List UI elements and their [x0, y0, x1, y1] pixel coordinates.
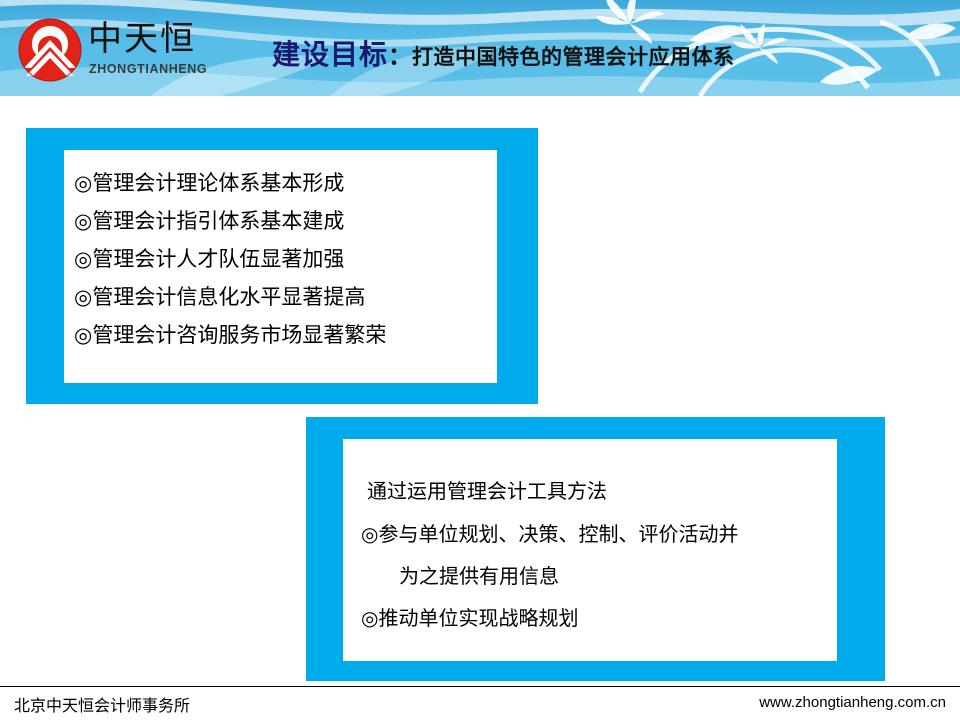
methods-lead-text: 通过运用管理会计工具方法 [361, 469, 831, 513]
slide-title: 建设目标：打造中国特色的管理会计应用体系 [272, 38, 735, 77]
goals-panel: ◎管理会计理论体系基本形成 ◎管理会计指引体系基本建成 ◎管理会计人才队伍显著加… [26, 128, 538, 404]
goals-list: ◎管理会计理论体系基本形成 ◎管理会计指引体系基本建成 ◎管理会计人才队伍显著加… [74, 164, 494, 354]
list-item: ◎管理会计指引体系基本建成 [74, 202, 494, 240]
zhongtianheng-emblem-icon [18, 18, 82, 82]
goals-panel-inner: ◎管理会计理论体系基本形成 ◎管理会计指引体系基本建成 ◎管理会计人才队伍显著加… [64, 150, 497, 383]
footer-organization: 北京中天恒会计师事务所 [14, 692, 190, 716]
list-item: ◎推动单位实现战略规划 [361, 597, 831, 639]
logo-chinese-name: 中天恒 [88, 20, 196, 58]
slide-title-sub: 打造中国特色的管理会计应用体系 [412, 45, 735, 69]
methods-panel: 通过运用管理会计工具方法 ◎参与单位规划、决策、控制、评价活动并 为之提供有用信… [306, 417, 885, 681]
list-item-continuation: 为之提供有用信息 [361, 555, 831, 597]
methods-list: 通过运用管理会计工具方法 ◎参与单位规划、决策、控制、评价活动并 为之提供有用信… [361, 469, 831, 639]
slide-title-main: 建设目标 [272, 38, 388, 71]
list-item: ◎参与单位规划、决策、控制、评价活动并 [361, 513, 831, 555]
footer-divider [0, 686, 960, 687]
list-item: ◎管理会计理论体系基本形成 [74, 164, 494, 202]
footer-website[interactable]: www.zhongtianheng.com.cn [759, 694, 946, 711]
slide-header: 中天恒 ZHONGTIANHENG 建设目标：打造中国特色的管理会计应用体系 [0, 0, 960, 96]
methods-panel-inner: 通过运用管理会计工具方法 ◎参与单位规划、决策、控制、评价活动并 为之提供有用信… [343, 439, 837, 661]
list-item: ◎管理会计咨询服务市场显著繁荣 [74, 316, 494, 354]
list-item: ◎管理会计信息化水平显著提高 [74, 278, 494, 316]
list-item: ◎管理会计人才队伍显著加强 [74, 240, 494, 278]
logo-english-name: ZHONGTIANHENG [89, 62, 207, 76]
company-logo: 中天恒 ZHONGTIANHENG [14, 14, 224, 86]
slide-title-colon: ： [388, 42, 412, 70]
